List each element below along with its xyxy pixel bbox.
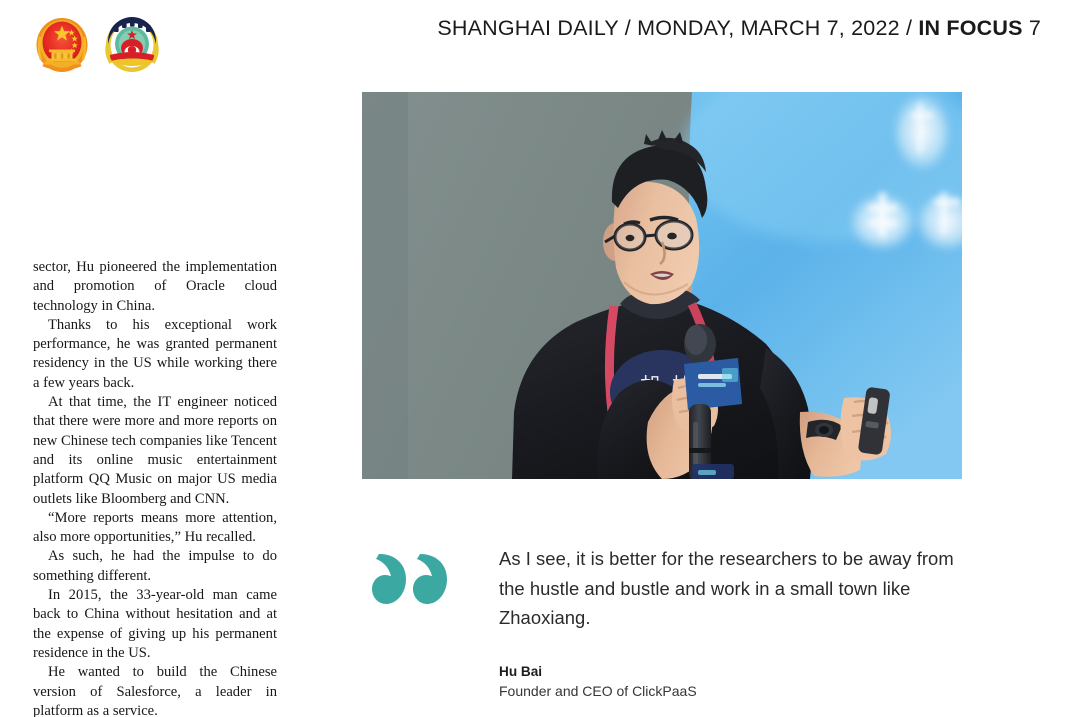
quote-body: As I see, it is better for the researche… (499, 544, 959, 701)
newspaper-page: SHANGHAI DAILY / MONDAY, MARCH 7, 2022 /… (0, 0, 1079, 717)
publication-name: SHANGHAI DAILY (437, 16, 618, 40)
masthead-separator-1: / (619, 16, 638, 40)
story-paragraph: sector, Hu pioneered the implementation … (33, 258, 277, 316)
story-paragraph: In 2015, the 33-year-old man came back t… (33, 586, 277, 663)
article-photo: 胡 柏 (362, 92, 962, 479)
attribution-role: Founder and CEO of ClickPaaS (499, 681, 959, 701)
national-emblem-of-china-icon (33, 13, 91, 75)
quote-text: As I see, it is better for the researche… (499, 544, 959, 633)
story-paragraph: At that time, the IT engineer noticed th… (33, 393, 277, 509)
cppcc-emblem-icon (102, 13, 162, 75)
story-paragraph: As such, he had the impulse to do someth… (33, 547, 277, 586)
masthead: SHANGHAI DAILY / MONDAY, MARCH 7, 2022 /… (0, 0, 1079, 100)
quote-mark-icon (372, 548, 450, 610)
page-number: 7 (1023, 16, 1041, 40)
issue-date: MONDAY, MARCH 7, 2022 (637, 16, 900, 40)
story-paragraph: He wanted to build the Chinese version o… (33, 663, 277, 717)
emblem-group (33, 13, 162, 75)
section-name: IN FOCUS (918, 16, 1022, 40)
story-paragraph: Thanks to his exceptional work performan… (33, 316, 277, 393)
attribution-name: Hu Bai (499, 662, 959, 681)
masthead-separator-2: / (900, 16, 919, 40)
story-paragraph: “More reports means more attention, also… (33, 509, 277, 548)
story-text-column: sector, Hu pioneered the implementation … (33, 258, 277, 717)
quote-attribution: Hu Bai Founder and CEO of ClickPaaS (499, 662, 959, 701)
masthead-headline: SHANGHAI DAILY / MONDAY, MARCH 7, 2022 /… (437, 16, 1041, 41)
